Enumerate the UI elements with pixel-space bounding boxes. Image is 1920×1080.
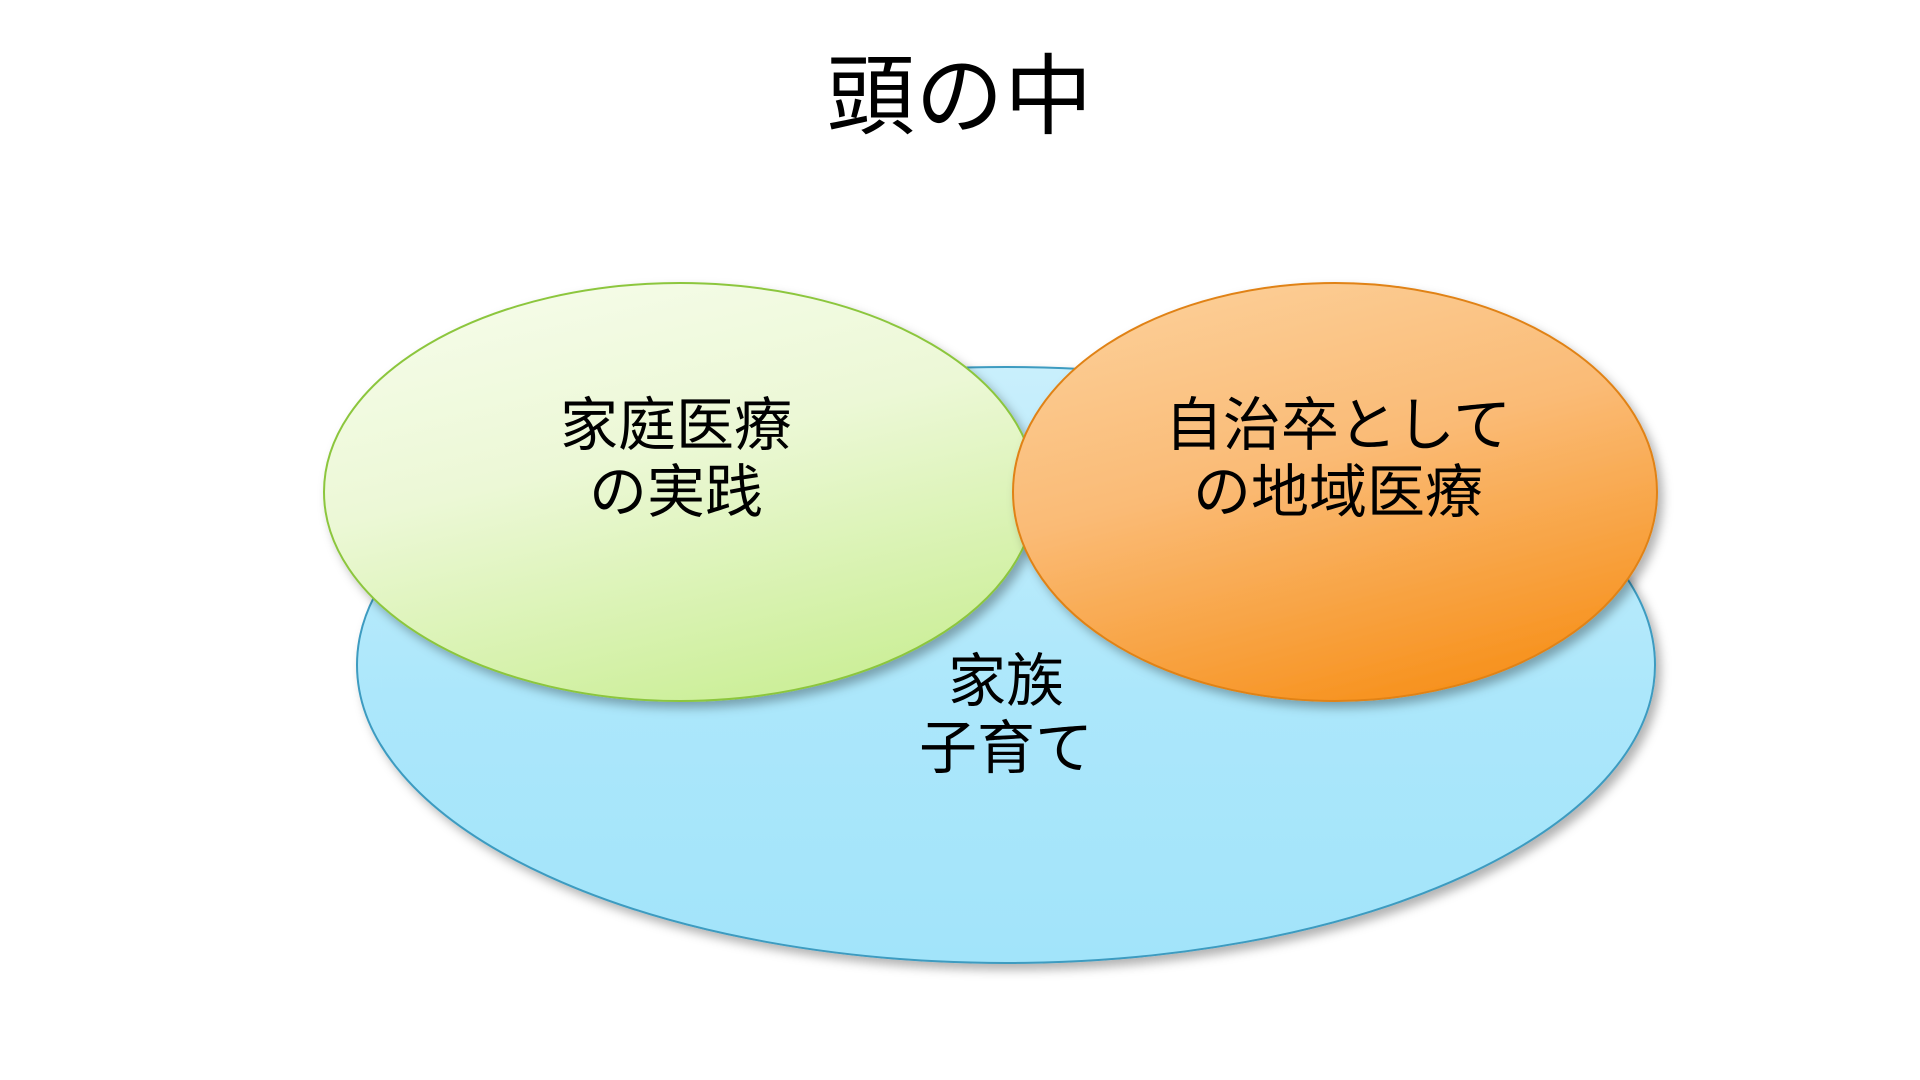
- venn-ellipse-orange: [1013, 283, 1657, 701]
- venn-ellipse-green: [324, 283, 1036, 701]
- venn-diagram: [0, 0, 1920, 1080]
- slide-canvas: 頭の中 家庭医療 の実践: [0, 0, 1920, 1080]
